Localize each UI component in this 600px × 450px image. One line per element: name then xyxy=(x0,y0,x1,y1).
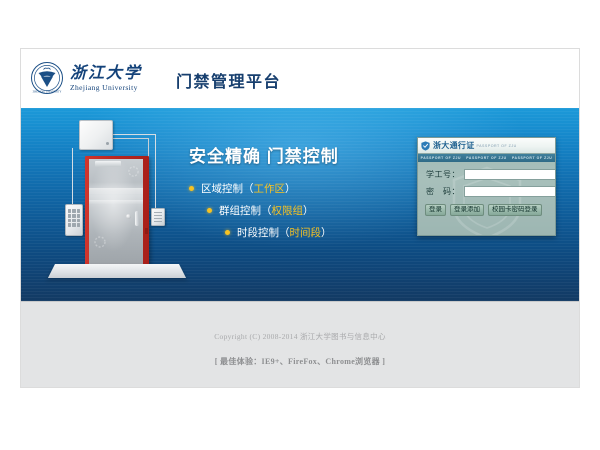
username-label: 学工号： xyxy=(426,169,464,180)
password-label: 密 码： xyxy=(426,186,464,197)
login-title-en: PASSPORT OF ZJU xyxy=(477,144,517,148)
hero-feature-list: 区域控制（工作区） 群组控制（权限组） 时段控制（时间段） xyxy=(189,181,409,240)
hero-bullet-text: 群组控制（ xyxy=(219,203,272,218)
login-form: 学工号： 密 码： xyxy=(418,162,555,197)
hero-bullet-accent: 权限组 xyxy=(272,203,304,218)
login-add-button[interactable]: 登录添加 xyxy=(450,204,484,216)
security-door-icon xyxy=(85,156,149,268)
hero-bullet-time-control: 时段控制（时间段） xyxy=(225,225,409,240)
card-reader-lines xyxy=(154,212,162,222)
hero-bullet-tail: ） xyxy=(285,181,296,196)
username-field[interactable] xyxy=(464,169,556,180)
login-row-password: 密 码： xyxy=(426,186,547,197)
hero-bullet-accent: 时间段 xyxy=(290,225,322,240)
door-illustration xyxy=(43,116,193,296)
brand-name-wrap: 浙江大学 Zhejiang University xyxy=(70,65,142,92)
passport-strip-word: PASSPORT OF ZJU xyxy=(421,156,461,160)
hero-bullet-text: 区域控制（ xyxy=(201,181,254,196)
brand-name-cn: 浙江大学 xyxy=(70,65,142,81)
door-controller-box-icon xyxy=(79,120,113,150)
svg-text:ZHEJIANG UNIVERSITY: ZHEJIANG UNIVERSITY xyxy=(33,90,62,93)
hero-headline: 安全精确 门禁控制 xyxy=(189,142,409,167)
hero-bullet-text: 时段控制（ xyxy=(237,225,290,240)
campus-card-login-button[interactable]: 校园卡密码登录 xyxy=(488,204,542,216)
login-button[interactable]: 登录 xyxy=(425,204,446,216)
login-titlebar: 浙大通行证 PASSPORT OF ZJU xyxy=(418,138,555,154)
hero-bullet-group-control: 群组控制（权限组） xyxy=(207,203,409,218)
brand-name-en: Zhejiang University xyxy=(70,84,142,92)
door-panel xyxy=(89,159,143,265)
hero-bullet-accent: 工作区 xyxy=(254,181,286,196)
bullet-dot-icon xyxy=(189,186,194,191)
login-button-row: 登录 登录添加 校园卡密码登录 xyxy=(418,203,555,216)
keypad-grid xyxy=(68,209,80,227)
door-highlight-band-2 xyxy=(89,200,143,204)
wire-controller-to-keypad xyxy=(72,148,73,205)
wire-controller-to-door xyxy=(111,134,156,135)
passport-strip-word: PASSPORT OF ZJU xyxy=(466,156,506,160)
hero-banner: 安全精确 门禁控制 区域控制（工作区） 群组控制（权限组） 时段控制（时间段） xyxy=(21,108,579,301)
login-title-cn: 浙大通行证 xyxy=(433,140,475,151)
passport-strip-word: PASSPORT OF ZJU xyxy=(512,156,552,160)
login-panel: 浙大通行证 PASSPORT OF ZJU PASSPORT OF ZJU PA… xyxy=(417,137,556,236)
door-status-led xyxy=(145,228,148,234)
site-card: ZHEJIANG UNIVERSITY 浙江大学 Zhejiang Univer… xyxy=(20,48,580,388)
hero-bullet-tail: ） xyxy=(303,203,314,218)
hero-bullet-area-control: 区域控制（工作区） xyxy=(189,181,409,196)
passport-strip: PASSPORT OF ZJU PASSPORT OF ZJU PASSPORT… xyxy=(418,154,555,162)
site-header: ZHEJIANG UNIVERSITY 浙江大学 Zhejiang Univer… xyxy=(21,49,579,108)
page-title: 门禁管理平台 xyxy=(176,68,281,92)
door-highlight-band-1 xyxy=(89,188,143,194)
card-reader-icon xyxy=(151,208,165,226)
footer-copyright: Copyright (C) 2008-2014 浙江大学图书与信息中心 xyxy=(21,331,579,342)
keypad-reader-icon xyxy=(65,204,83,236)
shield-icon xyxy=(421,141,430,151)
zju-seal-icon: ZHEJIANG UNIVERSITY xyxy=(30,61,64,95)
page-root: ZHEJIANG UNIVERSITY 浙江大学 Zhejiang Univer… xyxy=(0,0,600,450)
login-row-username: 学工号： xyxy=(426,169,547,180)
door-closer xyxy=(95,161,121,167)
site-footer: Copyright (C) 2008-2014 浙江大学图书与信息中心 [ 最佳… xyxy=(21,301,579,387)
controller-led xyxy=(106,142,109,145)
door-handle xyxy=(135,211,139,226)
bullet-dot-icon xyxy=(225,230,230,235)
door-knob xyxy=(126,214,131,219)
gear-decoration-left xyxy=(93,235,107,249)
hero-copy: 安全精确 门禁控制 区域控制（工作区） 群组控制（权限组） 时段控制（时间段） xyxy=(189,142,409,256)
brand-block[interactable]: ZHEJIANG UNIVERSITY 浙江大学 Zhejiang Univer… xyxy=(30,61,142,95)
wire-controller-to-door-2 xyxy=(111,138,149,139)
password-field[interactable] xyxy=(464,186,556,197)
hero-bullet-tail: ） xyxy=(321,225,332,240)
bullet-dot-icon xyxy=(207,208,212,213)
wire-door-vertical xyxy=(155,134,156,208)
footer-browser-note: [ 最佳体验：IE9+、FireFox、Chrome浏览器 ] xyxy=(21,356,579,367)
floor-slab xyxy=(48,264,186,278)
gear-decoration-right xyxy=(127,165,140,178)
